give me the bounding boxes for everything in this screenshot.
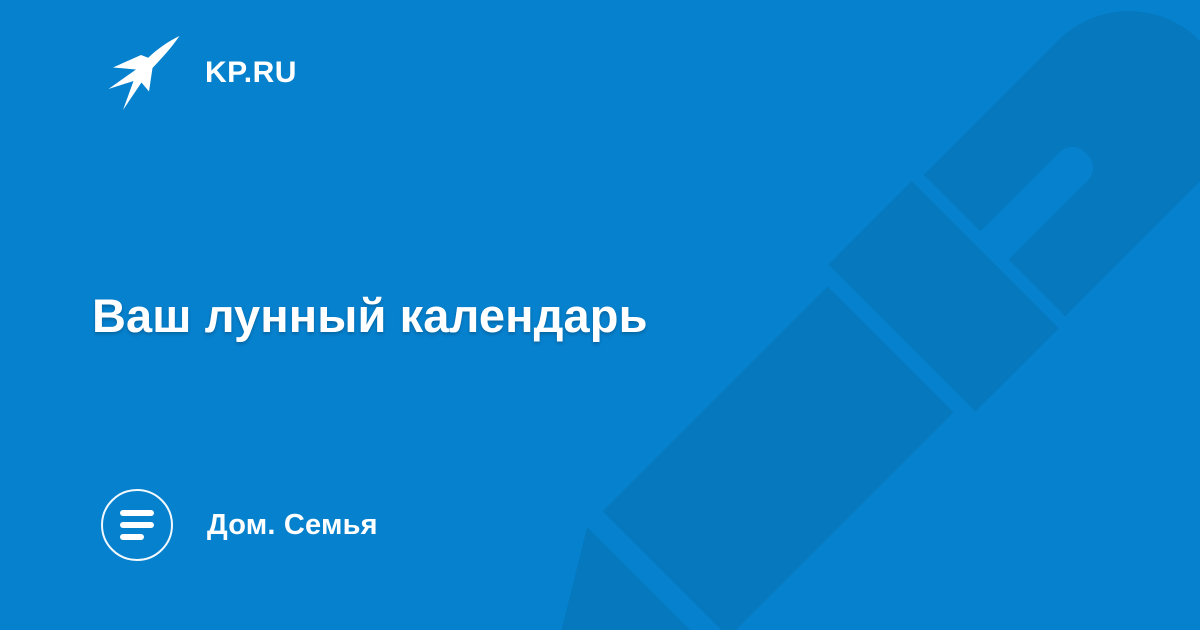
swallow-bird-icon [105, 33, 183, 113]
menu-bar-middle [120, 522, 154, 528]
menu-bar-bottom [120, 534, 144, 540]
menu-bar-top [120, 510, 154, 516]
page-title: Ваш лунный календарь [92, 289, 1092, 344]
brand-row[interactable]: KP.RU [105, 33, 297, 113]
rubric-label: Дом. Семья [207, 511, 378, 540]
rubric-row[interactable]: Дом. Семья [101, 489, 378, 561]
social-share-card: KP.RU Ваш лунный календарь Дом. Семья [0, 0, 1200, 630]
pen-tip [483, 527, 714, 630]
hamburger-menu-icon[interactable] [101, 489, 173, 561]
brand-wordmark: KP.RU [205, 58, 297, 88]
pen-cap [924, 0, 1200, 316]
